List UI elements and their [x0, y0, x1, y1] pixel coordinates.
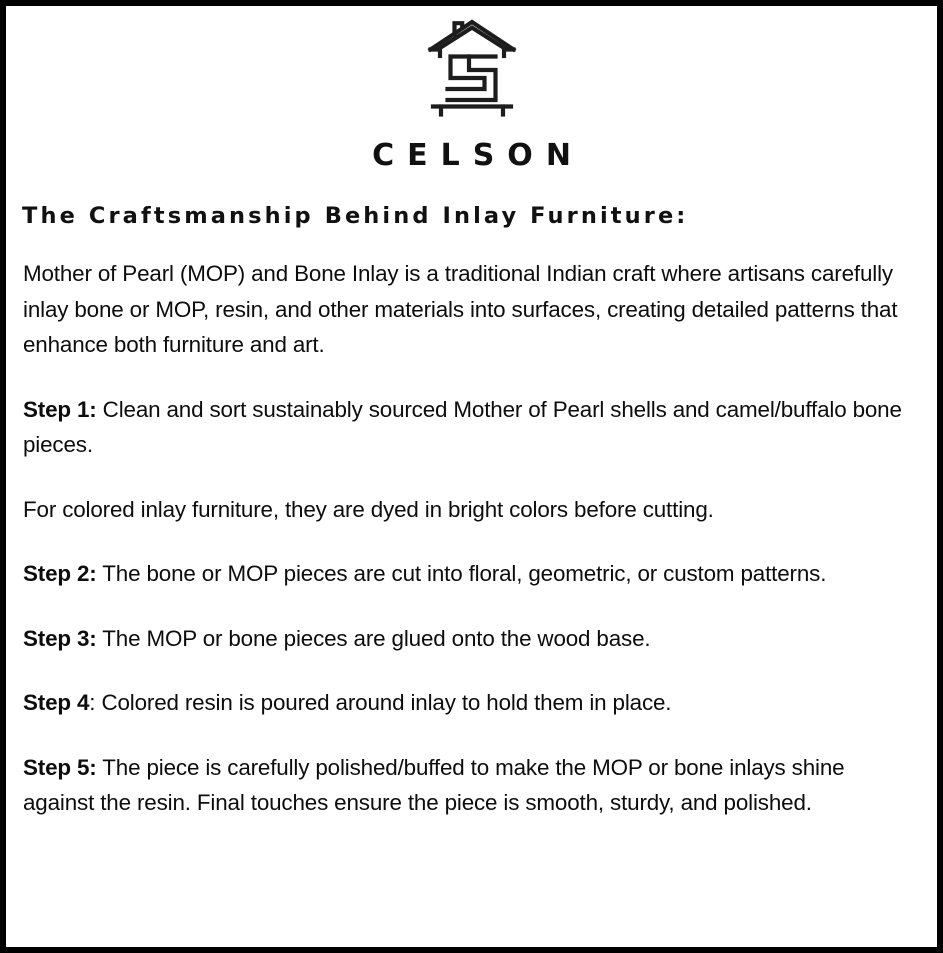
brand-logo-block: CELSON [17, 12, 926, 171]
paragraph-label: Step 4 [23, 690, 89, 715]
house-monogram-logo-icon [424, 18, 520, 120]
paragraph-step-5: Step 5: The piece is carefully polished/… [23, 750, 918, 821]
paragraph-text: The piece is carefully polished/buffed t… [23, 755, 844, 816]
paragraph-text: The bone or MOP pieces are cut into flor… [97, 561, 827, 586]
paragraph-intro: Mother of Pearl (MOP) and Bone Inlay is … [23, 256, 918, 363]
paragraph-step-1: Step 1: Clean and sort sustainably sourc… [23, 392, 918, 463]
poster-card: CELSON The Craftsmanship Behind Inlay Fu… [0, 0, 943, 953]
paragraph-step-3: Step 3: The MOP or bone pieces are glued… [23, 621, 918, 657]
body-copy: Mother of Pearl (MOP) and Bone Inlay is … [23, 256, 918, 821]
paragraph-step-2: Step 2: The bone or MOP pieces are cut i… [23, 556, 918, 592]
paragraph-text: The MOP or bone pieces are glued onto th… [97, 626, 651, 651]
paragraph-text: Clean and sort sustainably sourced Mothe… [23, 397, 902, 458]
brand-name: CELSON [17, 141, 926, 171]
paragraph-step-4: Step 4: Colored resin is poured around i… [23, 685, 918, 721]
page-title: The Craftsmanship Behind Inlay Furniture… [22, 203, 926, 230]
paragraph-text: Colored resin is poured around inlay to … [95, 690, 671, 715]
paragraph-label: Step 2: [23, 561, 97, 586]
paragraph-label: Step 1: [23, 397, 97, 422]
paragraph-note-colored-inlay: For colored inlay furniture, they are dy… [23, 492, 918, 528]
paragraph-label: Step 5: [23, 755, 97, 780]
paragraph-label: Step 3: [23, 626, 97, 651]
poster-inner: CELSON The Craftsmanship Behind Inlay Fu… [6, 6, 937, 947]
paragraph-text: For colored inlay furniture, they are dy… [23, 497, 714, 522]
paragraph-text: Mother of Pearl (MOP) and Bone Inlay is … [23, 261, 897, 357]
